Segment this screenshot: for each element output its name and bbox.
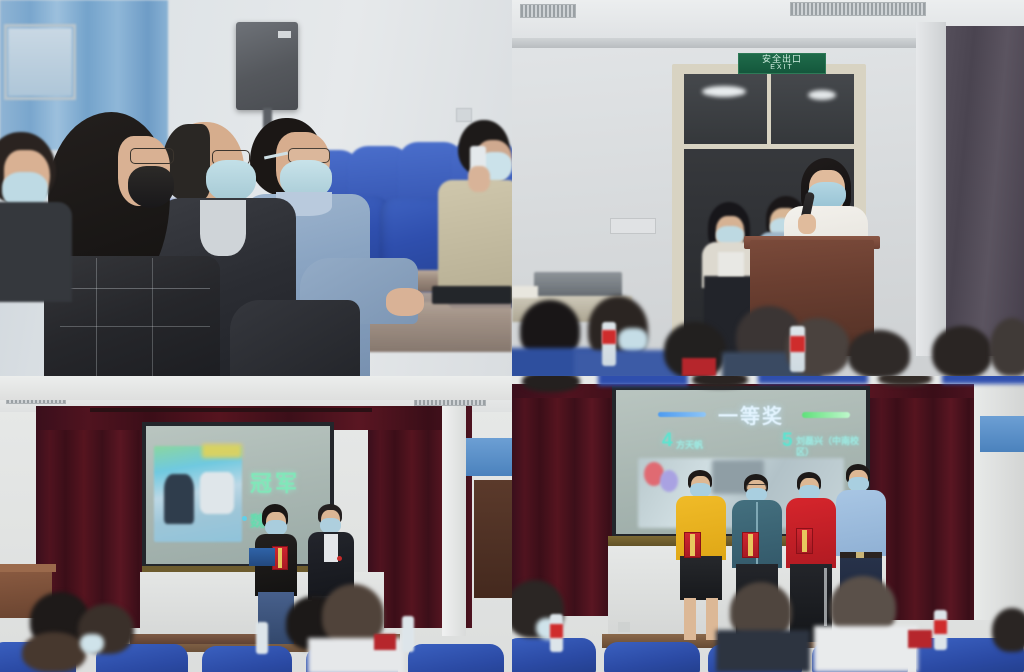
- slide-photo-figure: [164, 474, 194, 524]
- bottle-label: [550, 624, 563, 638]
- av-equipment: [534, 272, 622, 298]
- panel-podium-speaker: 安全出口 EXIT: [512, 0, 1024, 376]
- slide-title-first-prize: 一等奖: [718, 400, 784, 429]
- door: [474, 480, 512, 598]
- hand: [386, 288, 424, 316]
- lapel-pin: [337, 556, 342, 561]
- exit-sign: 安全出口 EXIT: [738, 53, 826, 74]
- audience-head: [22, 632, 86, 672]
- certificate-blue: [249, 548, 275, 566]
- podium-paper: [718, 252, 744, 276]
- audience-seat: [408, 644, 504, 672]
- water-bottle: [256, 622, 268, 654]
- slide-bullet: [242, 516, 247, 521]
- audience-shoulders: [814, 626, 918, 672]
- light-switch[interactable]: [610, 218, 656, 234]
- face-mask: [206, 160, 256, 202]
- face-mask: [128, 166, 174, 208]
- paper-stack: [512, 286, 538, 298]
- side-curtain: [942, 26, 1024, 356]
- panel-audience-closeup: [0, 0, 512, 376]
- hand: [798, 214, 816, 234]
- trouser-stripe: [824, 568, 827, 626]
- window-glass: [8, 28, 72, 96]
- slide-accent-bar-left: [658, 412, 706, 417]
- soffit: [0, 376, 512, 400]
- slide-photo-accent: [202, 444, 242, 458]
- wall-pillar: [442, 406, 466, 636]
- arm: [230, 300, 360, 376]
- eyeglasses: [130, 148, 174, 164]
- certificate-gold-strip: [748, 534, 753, 556]
- audience-head: [990, 318, 1024, 376]
- torso-blue-shirt: [836, 490, 886, 556]
- slide-balloon: [660, 470, 678, 492]
- photo-collage: 安全出口 EXIT: [0, 0, 1024, 672]
- transom-reflection: [702, 86, 746, 97]
- slide-photo-figure: [200, 472, 234, 514]
- inner-shirt: [200, 200, 246, 256]
- plaid-line: [96, 258, 97, 376]
- certificate-gold-strip: [690, 534, 695, 556]
- slide-entry-number-4: 4: [662, 430, 673, 452]
- audience-head-top: [692, 376, 748, 388]
- ceiling-beam: [512, 38, 982, 48]
- plaid-line: [152, 258, 153, 376]
- projection-screen: 冠军 魏迪: [142, 422, 334, 568]
- shorts: [680, 556, 722, 600]
- audience-head: [932, 326, 992, 376]
- slide-title-champion: 冠军: [250, 466, 300, 498]
- side-podium-top: [0, 564, 56, 572]
- audience-mask: [80, 634, 104, 654]
- audience-head: [992, 608, 1024, 652]
- slide-accent-bar-right: [802, 412, 850, 418]
- curtain-rail: [90, 408, 372, 412]
- audience-head-top: [522, 376, 580, 392]
- wall-pillar: [916, 22, 946, 356]
- plaid-line: [60, 288, 210, 289]
- dress-shirt: [324, 534, 338, 562]
- blue-valance: [980, 416, 1024, 452]
- audience-seat: [202, 646, 292, 672]
- audience-shoulders: [716, 630, 810, 672]
- laptop: [432, 286, 512, 304]
- red-box: [908, 630, 932, 648]
- audience-seat-top: [598, 376, 688, 386]
- torso: [438, 180, 512, 300]
- blue-valance: [464, 438, 512, 476]
- audience-seat-top: [758, 376, 868, 384]
- red-box: [374, 634, 396, 650]
- slide-entry-number-5: 5: [782, 430, 793, 452]
- torso: [0, 202, 72, 302]
- ceiling-vent: [790, 2, 926, 16]
- bottle-label: [790, 336, 805, 352]
- audience-seat: [604, 642, 700, 672]
- bottle-label: [602, 330, 616, 344]
- wall-outlet: [618, 622, 630, 632]
- bottle-label: [934, 620, 947, 634]
- exit-sign-chinese: 安全出口: [762, 55, 802, 64]
- red-box: [682, 358, 716, 376]
- certificate-gold-strip: [802, 530, 807, 552]
- hand: [468, 166, 490, 192]
- slide-entry-name-4: 方天帆: [676, 438, 703, 451]
- audience-seat-top: [942, 376, 1024, 384]
- panel-first-prize-award: 一等奖 4 方天帆 5 刘磊兴（中南校区）: [512, 376, 1024, 672]
- water-bottle: [402, 616, 414, 652]
- plaid-line: [60, 326, 210, 327]
- transom-sill: [684, 144, 854, 149]
- audience-head: [848, 330, 910, 376]
- legs: [684, 598, 696, 640]
- slide-entry-name-5: 刘磊兴（中南校区）: [796, 436, 866, 458]
- speaker-label: [278, 31, 291, 38]
- panel-champion-award: 冠军 魏迪: [0, 376, 512, 672]
- transom-reflection: [808, 90, 836, 100]
- transom-divider: [767, 74, 771, 148]
- exit-sign-english: EXIT: [770, 64, 794, 72]
- water-bottle: [602, 322, 616, 366]
- wall-outlet: [456, 108, 472, 122]
- ceiling-vent: [520, 4, 576, 18]
- certificate-gold-strip: [278, 548, 282, 568]
